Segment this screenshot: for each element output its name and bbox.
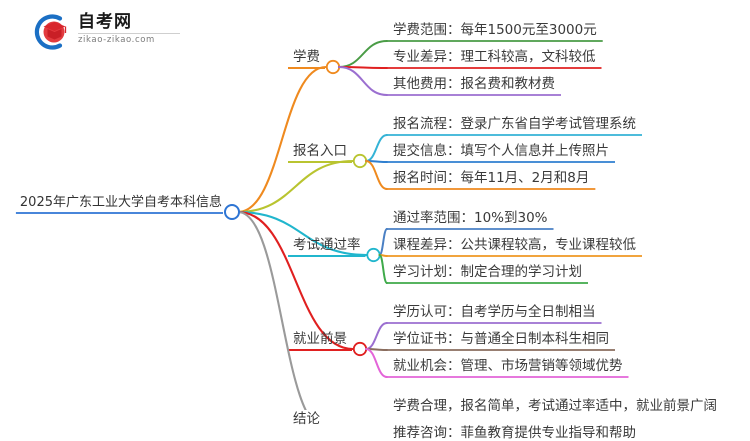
mindmap-connector — [380, 255, 388, 283]
mindmap-branch-label-5: 结论 — [293, 413, 320, 427]
mindmap-leaf-label-2-2: 提交信息：填写个人信息并上传照片 — [393, 145, 609, 159]
mindmap-leaf-label-5-1: 学费合理，报名简单，考试通过率适中，就业前景广阔 — [393, 400, 717, 414]
mindmap-branch-node-4[interactable] — [354, 343, 366, 355]
mindmap-leaf-label-1-2: 专业差异：理工科较高，文科较低 — [393, 51, 596, 65]
mindmap-branch-node-3[interactable] — [367, 249, 379, 261]
mindmap-leaf-label-1-1: 学费范围：每年1500元至3000元 — [393, 24, 597, 38]
mindmap-branch-label-1: 学费 — [293, 51, 320, 65]
mindmap-connector — [339, 67, 387, 95]
mindmap-leaf-label-2-3: 报名时间：每年11月、2月和8月 — [393, 172, 589, 186]
mindmap-connector — [339, 41, 387, 67]
mindmap-leaf-label-4-1: 学历认可：自考学历与全日制相当 — [393, 306, 596, 320]
mindmap-root-label: 2025年广东工业大学自考本科信息 — [20, 196, 222, 209]
mindmap-connector — [238, 212, 353, 349]
mindmap-connector — [366, 349, 387, 377]
mindmap-branch-label-2: 报名入口 — [293, 145, 347, 159]
mindmap-leaf-label-3-1: 通过率范围：10%到30% — [393, 212, 548, 226]
mindmap-branch-node-1[interactable] — [327, 61, 339, 73]
mindmap-canvas: 2025年广东工业大学自考本科信息学费学费范围：每年1500元至3000元专业差… — [0, 0, 750, 410]
mindmap-connector — [366, 161, 387, 189]
mindmap-connector — [366, 323, 387, 349]
mindmap-connector — [238, 67, 326, 212]
mindmap-branch-node-2[interactable] — [354, 155, 366, 167]
mindmap-leaf-label-5-2: 推荐咨询：菲鱼教育提供专业指导和帮助 — [393, 427, 636, 441]
mindmap-leaf-label-4-3: 就业机会：管理、市场营销等领域优势 — [393, 360, 623, 374]
mindmap-leaf-label-1-3: 其他费用：报名费和教材费 — [393, 78, 555, 92]
mindmap-leaf-label-3-3: 学习计划：制定合理的学习计划 — [393, 266, 582, 280]
mindmap-branch-label-4: 就业前景 — [293, 333, 347, 347]
mindmap-connector — [380, 229, 388, 255]
mindmap-leaf-label-4-2: 学位证书：与普通全日制本科生相同 — [393, 333, 609, 347]
mindmap-leaf-label-3-2: 课程差异：公共课程较高，专业课程较低 — [393, 239, 636, 253]
mindmap-branch-label-3: 考试通过率 — [293, 239, 361, 253]
mindmap-root-node[interactable] — [225, 205, 239, 219]
mindmap-leaf-label-2-1: 报名流程：登录广东省自学考试管理系统 — [393, 118, 636, 132]
mindmap-connector — [366, 135, 387, 161]
